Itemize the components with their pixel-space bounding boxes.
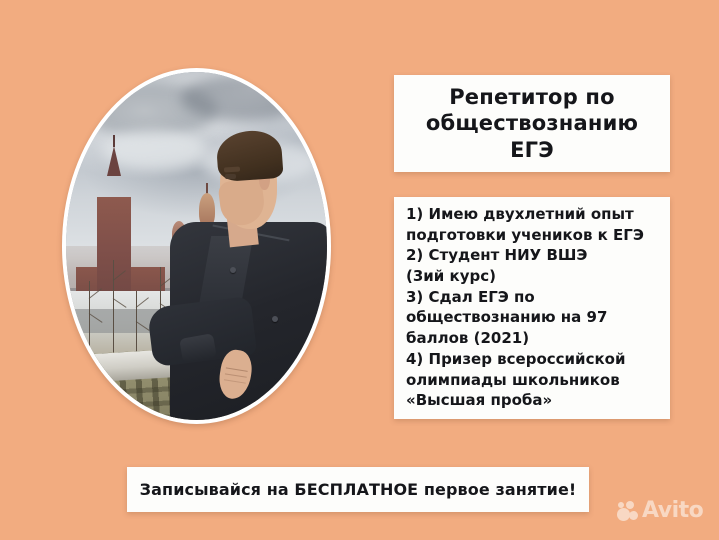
portrait-photo-scene <box>66 72 327 420</box>
title-line-2: обществознанию ЕГЭ <box>426 111 638 161</box>
details-line: олимпиады школьников <box>406 370 660 391</box>
portrait-photo-clip <box>66 72 327 420</box>
avito-logo-dot-tiny <box>618 502 624 508</box>
photo-person-eye <box>225 174 235 179</box>
avito-logo-dot-large <box>617 508 630 521</box>
details-line: 1) Имею двухлетний опыт <box>406 204 660 225</box>
title-card: Репетитор по обществознанию ЕГЭ <box>394 75 670 172</box>
advert-canvas: Репетитор по обществознанию ЕГЭ 1) Имею … <box>0 0 719 540</box>
details-line: 3) Сдал ЕГЭ по <box>406 287 660 308</box>
cta-banner: Записывайся на БЕСПЛАТНОЕ первое занятие… <box>127 467 589 512</box>
avito-watermark: Avito <box>617 500 703 522</box>
cta-text: Записывайся на БЕСПЛАТНОЕ первое занятие… <box>140 480 577 499</box>
avito-wordmark: Avito <box>642 500 703 522</box>
avito-logo-icon <box>617 501 638 522</box>
page-title: Репетитор по обществознанию ЕГЭ <box>394 84 670 163</box>
details-card: 1) Имею двухлетний опыт подготовки учени… <box>394 197 670 419</box>
title-line-1: Репетитор по <box>449 85 615 109</box>
photo-person <box>66 72 327 420</box>
avito-logo-dot-small <box>626 501 634 509</box>
details-line: 2) Студент НИУ ВШЭ <box>406 245 660 266</box>
details-line: подготовки учеников к ЕГЭ <box>406 225 660 246</box>
details-line: обществознанию на 97 <box>406 307 660 328</box>
details-line: «Высшая проба» <box>406 390 660 411</box>
details-line: баллов (2021) <box>406 328 660 349</box>
details-line: (3ий курс) <box>406 266 660 287</box>
details-list: 1) Имею двухлетний опыт подготовки учени… <box>406 204 660 411</box>
details-line: 4) Призер всероссийской <box>406 349 660 370</box>
photo-person-button <box>272 316 278 322</box>
portrait-photo <box>62 68 331 424</box>
avito-logo-dot-medium <box>629 511 638 520</box>
